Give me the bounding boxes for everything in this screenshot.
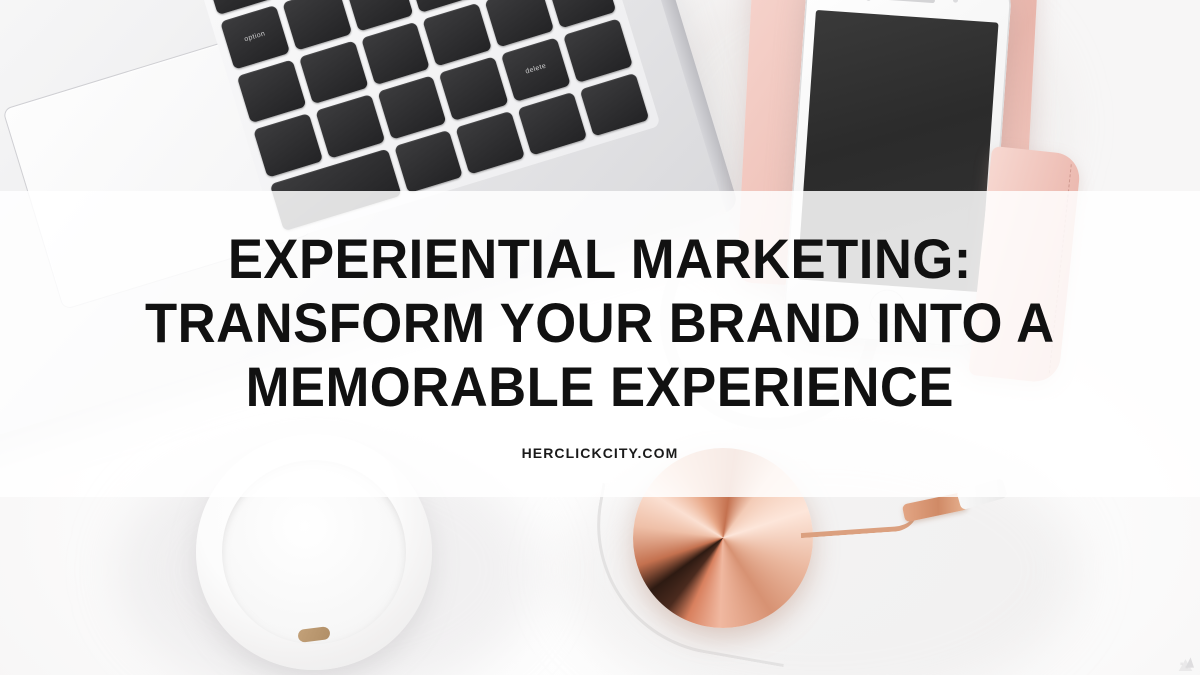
keyboard-key xyxy=(394,129,464,193)
key-label xyxy=(253,113,323,177)
key-label: delete xyxy=(501,37,571,101)
key-label xyxy=(423,2,493,66)
keyboard-key xyxy=(361,21,431,85)
keyboard-key xyxy=(439,56,509,120)
title-line-1: EXPERIENTIAL MARKETING: xyxy=(145,227,1055,291)
phone-front-camera-icon xyxy=(864,0,871,1)
keyboard-key xyxy=(518,91,588,155)
key-label xyxy=(518,91,588,155)
featured-image-canvas: command O option P xyxy=(0,0,1200,675)
site-url-label: HERCLICKCITY.COM xyxy=(522,445,679,461)
corner-watermark-icon xyxy=(1160,637,1194,671)
title-line-2: TRANSFORM YOUR BRAND INTO A xyxy=(145,291,1055,355)
key-label xyxy=(361,21,431,85)
phone-earpiece-speaker xyxy=(882,0,934,3)
key-label xyxy=(580,72,650,136)
key-label xyxy=(377,75,447,139)
key-label xyxy=(456,110,526,174)
key-label xyxy=(315,94,385,158)
keyboard-key-delete: delete xyxy=(501,37,571,101)
key-label xyxy=(299,40,369,104)
keyboard-key xyxy=(315,94,385,158)
key-label xyxy=(394,129,464,193)
key-label: option xyxy=(220,5,290,69)
key-label xyxy=(237,59,307,123)
keyboard-key xyxy=(423,2,493,66)
keyboard-key xyxy=(377,75,447,139)
text-overlay-band: EXPERIENTIAL MARKETING: TRANSFORM YOUR B… xyxy=(0,191,1200,497)
key-label xyxy=(563,18,633,82)
keyboard-key xyxy=(299,40,369,104)
keyboard-key xyxy=(237,59,307,123)
keyboard-key-power xyxy=(563,18,633,82)
title-line-3: MEMORABLE EXPERIENCE xyxy=(145,355,1055,419)
page-title: EXPERIENTIAL MARKETING: TRANSFORM YOUR B… xyxy=(108,227,1093,418)
keyboard-key xyxy=(580,72,650,136)
cup-sip-hole xyxy=(297,626,330,643)
keyboard-key xyxy=(253,113,323,177)
keyboard-key-option: option xyxy=(220,5,290,69)
keyboard-key xyxy=(456,110,526,174)
key-label xyxy=(439,56,509,120)
phone-proximity-sensor xyxy=(952,0,957,3)
